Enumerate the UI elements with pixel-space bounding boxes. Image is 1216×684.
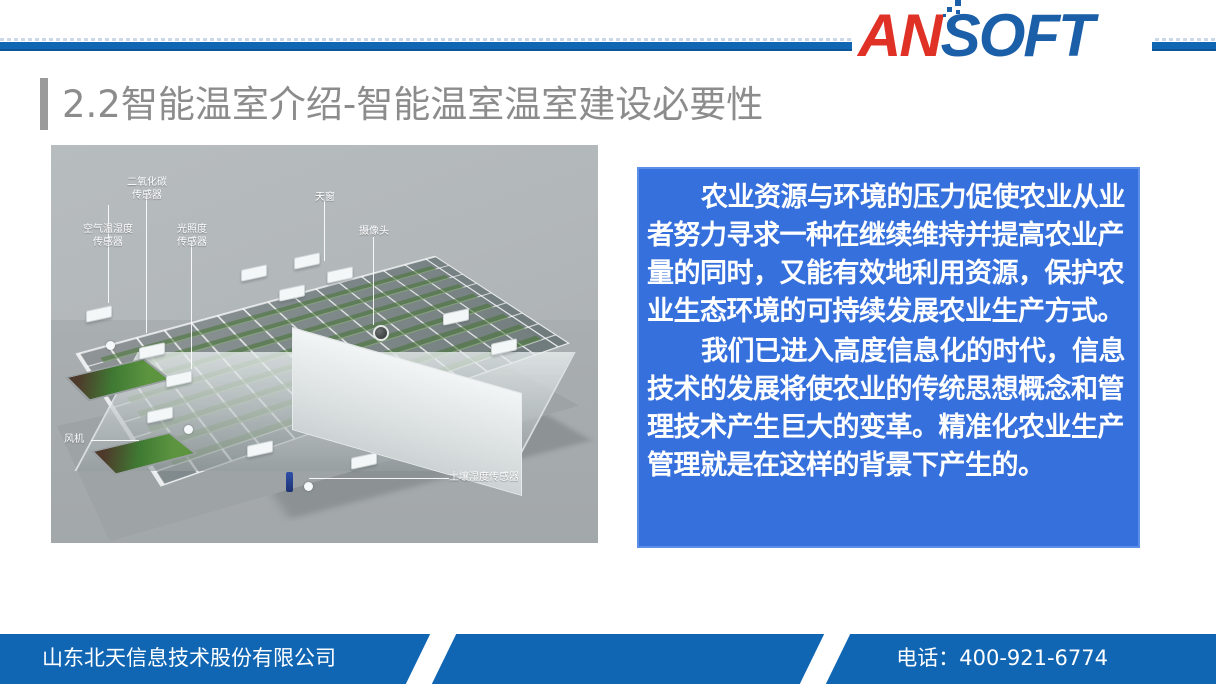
outdoor-planting-beds bbox=[67, 344, 286, 527]
leader-line bbox=[108, 205, 109, 303]
leader-line bbox=[191, 241, 192, 369]
greenhouse-illustration: 二氧化碳 传感器 空气温湿度 传感器 光照度 传感器 天窗 摄像头 风机 土壤湿… bbox=[51, 145, 598, 543]
planting-bed bbox=[64, 359, 171, 402]
logo-text-an: AN bbox=[858, 6, 941, 66]
label-fan: 风机 bbox=[57, 433, 91, 446]
slide-footer: 山东北天信息技术股份有限公司 电话：400-921-6774 bbox=[0, 634, 1216, 684]
label-camera: 摄像头 bbox=[350, 225, 398, 238]
planting-bed bbox=[91, 432, 198, 475]
slide-header: AN SOFT bbox=[0, 0, 1216, 72]
soil-probe-icon bbox=[286, 472, 293, 492]
leader-line bbox=[309, 478, 449, 479]
callout-box: 农业资源与环境的压力促使农业从业者努力寻求一种在继续维持并提高农业产量的同时，又… bbox=[637, 167, 1140, 548]
title-label: 2.2智能温室介绍-智能温室温室建设必要性 bbox=[62, 86, 763, 123]
page-title: 2.2智能温室介绍-智能温室温室建设必要性 bbox=[40, 78, 763, 130]
callout-paragraph-1: 农业资源与环境的压力促使农业从业者努力寻求一种在继续维持并提高农业产量的同时，又… bbox=[647, 179, 1130, 331]
leader-line bbox=[91, 440, 139, 441]
logo-pixel-dots-icon bbox=[943, 0, 965, 20]
logo-text-soft: SOFT bbox=[941, 6, 1093, 66]
title-accent-bar bbox=[40, 78, 48, 130]
sensor-marker-icon bbox=[184, 425, 193, 434]
soil-sensor-marker-icon bbox=[304, 482, 313, 491]
label-soil-sensor: 土壤湿度传感器 bbox=[449, 471, 541, 484]
label-air-th-sensor: 空气温湿度 传感器 bbox=[67, 223, 149, 249]
footer-company-name: 山东北天信息技术股份有限公司 bbox=[42, 645, 336, 671]
leader-line bbox=[373, 237, 374, 325]
ansoft-logo: AN SOFT bbox=[858, 5, 1150, 67]
label-co2-sensor: 二氧化碳 传感器 bbox=[114, 176, 180, 202]
slide: AN SOFT 2.2智能温室介绍-智能温室温室建设必要性 bbox=[0, 0, 1216, 684]
label-skylight: 天窗 bbox=[304, 191, 346, 204]
leader-line bbox=[324, 201, 325, 261]
sensor-marker-icon bbox=[106, 341, 115, 350]
footer-diagonal-divider bbox=[399, 634, 463, 684]
leader-line bbox=[146, 193, 147, 333]
sensor-unit-icon bbox=[294, 252, 320, 270]
label-light-sensor: 光照度 传感器 bbox=[159, 223, 225, 249]
footer-diagonal-divider bbox=[793, 634, 857, 684]
sensor-unit-icon bbox=[241, 264, 267, 282]
camera-icon bbox=[373, 325, 389, 341]
footer-phone: 电话：400-921-6774 bbox=[896, 645, 1108, 671]
callout-paragraph-2: 我们已进入高度信息化的时代，信息技术的发展将使农业的传统思想概念和管理技术产生巨… bbox=[647, 333, 1130, 485]
